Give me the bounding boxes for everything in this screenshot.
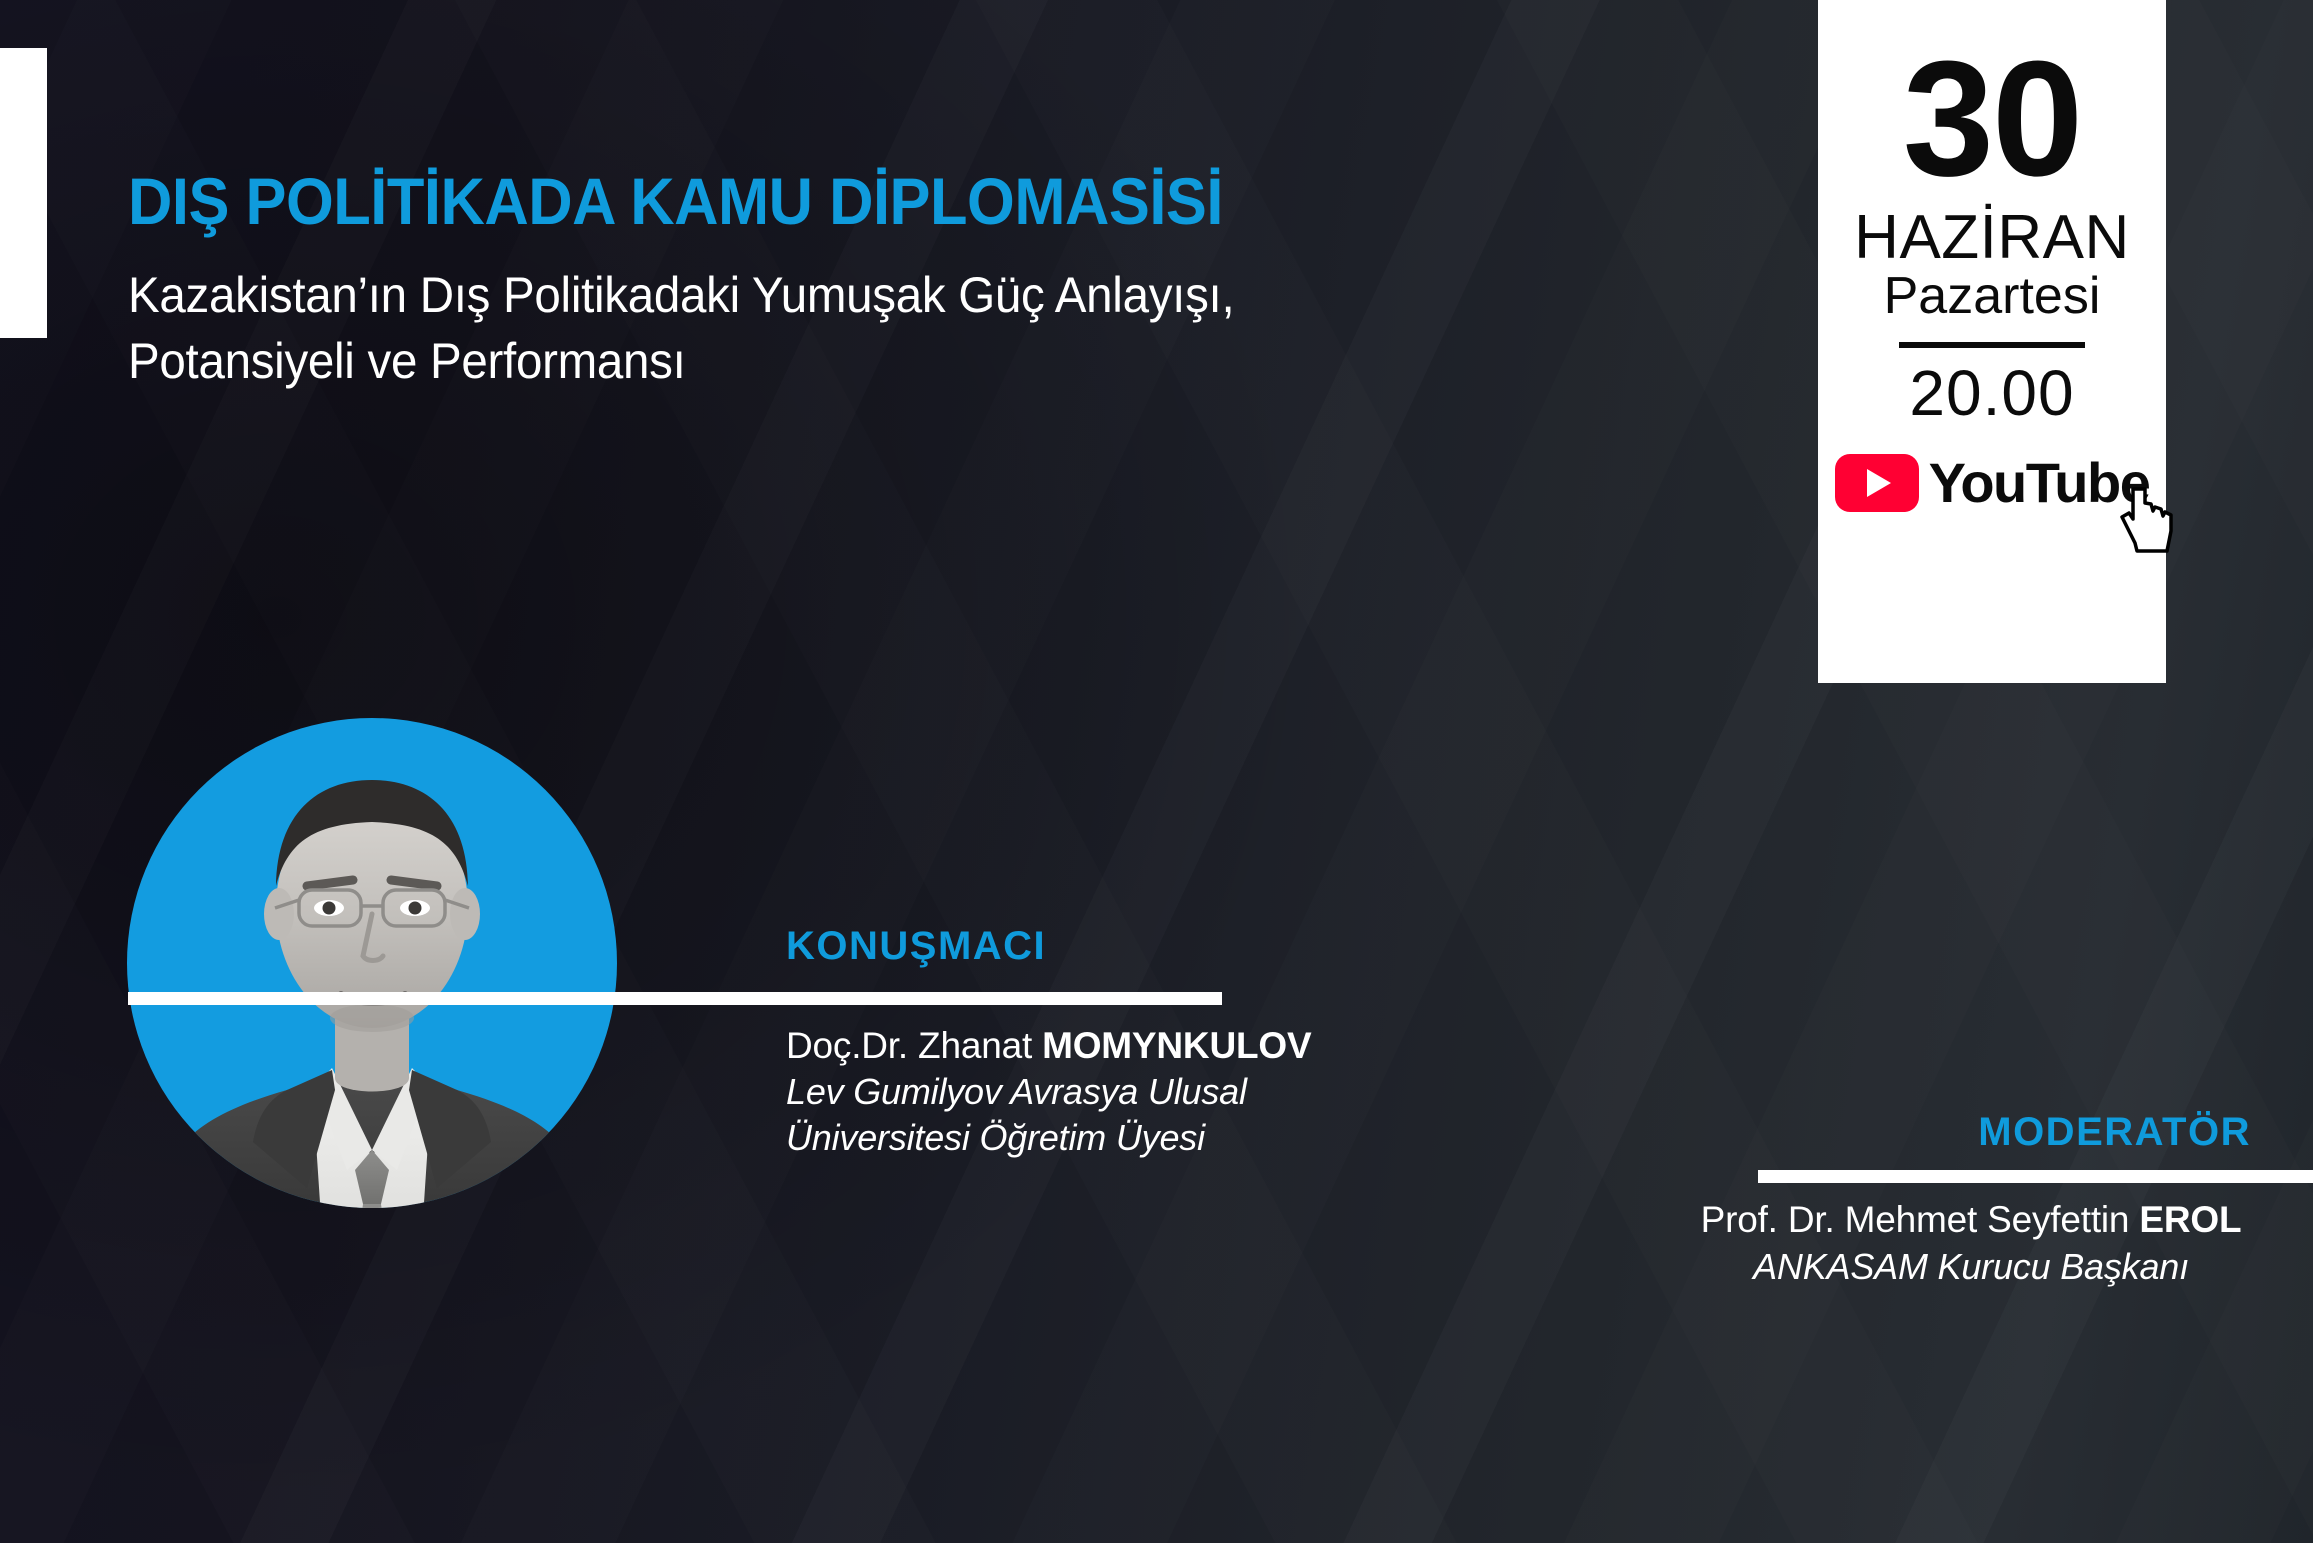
event-poster: DIŞ POLİTİKADA KAMU DİPLOMASİSİ Kazakist… <box>0 0 2313 1543</box>
moderator-details: Prof. Dr. Mehmet Seyfettin EROL ANKASAM … <box>1691 1196 2251 1291</box>
date-divider <box>1899 342 2085 348</box>
speaker-details: Doç.Dr. Zhanat MOMYNKULOV Lev Gumilyov A… <box>786 1022 1311 1162</box>
date-card: 30 HAZİRAN Pazartesi 20.00 YouTube <box>1818 0 2166 683</box>
moderator-org: ANKASAM Kurucu Başkanı <box>1691 1244 2251 1291</box>
page-subtitle: Kazakistan’ın Dış Politikadaki Yumuşak G… <box>128 262 1610 394</box>
youtube-wordmark: YouTube <box>1929 450 2150 515</box>
speaker-name-prefix: Doç.Dr. Zhanat <box>786 1025 1042 1066</box>
speaker-divider-overlay <box>128 992 1222 1005</box>
date-month: HAZİRAN <box>1854 206 2130 269</box>
speaker-org-line-2: Üniversitesi Öğretim Üyesi <box>786 1115 1311 1161</box>
portrait-photo <box>157 718 587 1208</box>
subtitle-line-2: Potansiyeli ve Performansı <box>128 328 1610 394</box>
youtube-play-icon <box>1835 454 1919 512</box>
date-weekday: Pazartesi <box>1884 269 2101 324</box>
speaker-surname: MOMYNKULOV <box>1042 1025 1311 1066</box>
headline-block: DIŞ POLİTİKADA KAMU DİPLOMASİSİ Kazakist… <box>128 168 1688 394</box>
play-triangle-icon <box>1867 469 1891 497</box>
date-day: 30 <box>1903 42 2081 196</box>
portrait-blue-circle <box>127 718 617 1208</box>
moderator-name: Prof. Dr. Mehmet Seyfettin EROL <box>1691 1196 2251 1244</box>
speaker-org-line-1: Lev Gumilyov Avrasya Ulusal <box>786 1069 1311 1115</box>
event-time: 20.00 <box>1909 358 2074 428</box>
moderator-name-prefix: Prof. Dr. Mehmet Seyfettin <box>1701 1199 2140 1240</box>
moderator-surname: EROL <box>2139 1199 2241 1240</box>
speaker-name: Doç.Dr. Zhanat MOMYNKULOV <box>786 1022 1311 1069</box>
pointer-hand-cursor-icon <box>2117 485 2179 555</box>
page-title: DIŞ POLİTİKADA KAMU DİPLOMASİSİ <box>128 168 1579 234</box>
speaker-portrait <box>127 718 617 1208</box>
top-left-accent-bar <box>0 48 47 338</box>
speaker-label: KONUŞMACI <box>786 924 1046 969</box>
moderator-divider <box>1758 1170 2313 1183</box>
youtube-link[interactable]: YouTube <box>1835 450 2150 515</box>
moderator-label: MODERATÖR <box>1978 1110 2251 1155</box>
subtitle-line-1: Kazakistan’ın Dış Politikadaki Yumuşak G… <box>128 262 1610 328</box>
